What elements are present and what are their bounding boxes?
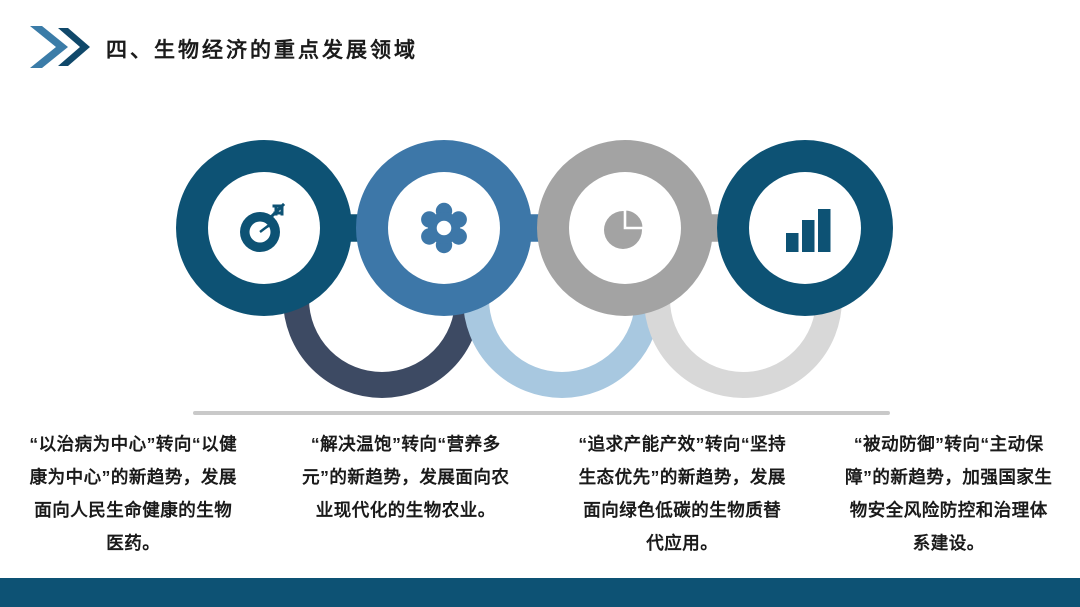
process-diagram (0, 125, 1080, 385)
caption-biosafety: “被动防御”转向“主动保障”的新趋势，加强国家生物安全风险防控和治理体系建设。 (818, 428, 1080, 576)
target-dart-icon (233, 197, 295, 259)
caption-row: “以治病为中心”转向“以健康为中心”的新趋势，发展面向人民生命健康的生物医药。 … (0, 428, 1080, 576)
section-divider (193, 411, 890, 415)
page-title: 四、生物经济的重点发展领域 (106, 34, 418, 64)
double-chevron-decoration (28, 24, 98, 68)
caption-biomedicine: “以治病为中心”转向“以健康为中心”的新趋势，发展面向人民生命健康的生物医药。 (0, 428, 265, 576)
node-icon-3-holder (589, 192, 661, 264)
gear-flower-icon (416, 200, 472, 256)
node-icon-2-holder (408, 192, 480, 264)
pie-chart-icon (597, 200, 653, 256)
node-icon-1-holder (228, 192, 300, 264)
bar-chart-icon (777, 200, 833, 256)
caption-biomass: “追求产能产效”转向“坚持生态优先”的新趋势，发展面向绿色低碳的生物质替代应用。 (547, 428, 818, 576)
footer-bar (0, 578, 1080, 607)
node-icon-4-holder (769, 192, 841, 264)
slide-header: 四、生物经济的重点发展领域 (0, 0, 1080, 92)
caption-bioagriculture: “解决温饱”转向“营养多元”的新趋势，发展面向农业现代化的生物农业。 (265, 428, 548, 576)
chevron-right-icon (28, 24, 98, 70)
